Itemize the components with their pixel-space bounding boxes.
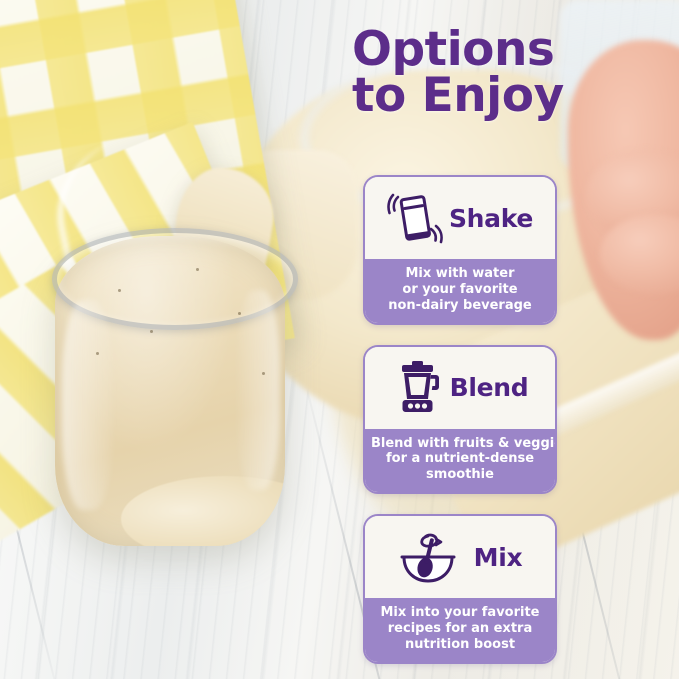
- description-line: recipes for an extra: [371, 621, 549, 637]
- mixing-bowl-spoon-icon: [398, 528, 472, 586]
- option-card-blend[interactable]: Blend Blend with fruits & veggies for a …: [363, 345, 557, 495]
- card-description-shake: Mix with water or your favorite non-dair…: [365, 259, 555, 323]
- options-card-list: Shake Mix with water or your favorite no…: [363, 175, 553, 679]
- description-line: non-dairy beverage: [371, 298, 549, 314]
- headline-line-2: to Enjoy: [352, 73, 672, 119]
- description-line: Mix into your favorite: [371, 605, 549, 621]
- page-title: Options to Enjoy: [352, 27, 672, 119]
- description-line: smoothie: [371, 467, 549, 483]
- description-line: for a nutrient-dense: [371, 451, 549, 467]
- shaker-bottle-icon: [387, 189, 443, 247]
- card-header-shake: Shake: [365, 177, 555, 259]
- description-line: or your favorite: [371, 282, 549, 298]
- card-header-blend: Blend: [365, 347, 555, 429]
- option-card-mix[interactable]: Mix Mix into your favorite recipes for a…: [363, 514, 557, 664]
- option-card-shake[interactable]: Shake Mix with water or your favorite no…: [363, 175, 557, 325]
- card-title-mix: Mix: [474, 545, 523, 570]
- card-title-shake: Shake: [449, 206, 533, 231]
- card-header-mix: Mix: [365, 516, 555, 598]
- description-line: Mix with water: [371, 266, 549, 282]
- card-title-blend: Blend: [450, 375, 529, 400]
- description-line: Blend with fruits & veggies: [371, 436, 549, 452]
- card-description-mix: Mix into your favorite recipes for an ex…: [365, 598, 555, 662]
- blender-icon: [392, 359, 444, 417]
- description-line: nutrition boost: [371, 637, 549, 653]
- product-infographic: Options to Enjoy: [0, 0, 679, 679]
- card-description-blend: Blend with fruits & veggies for a nutrie…: [365, 429, 555, 493]
- content-overlay: Options to Enjoy: [0, 0, 679, 679]
